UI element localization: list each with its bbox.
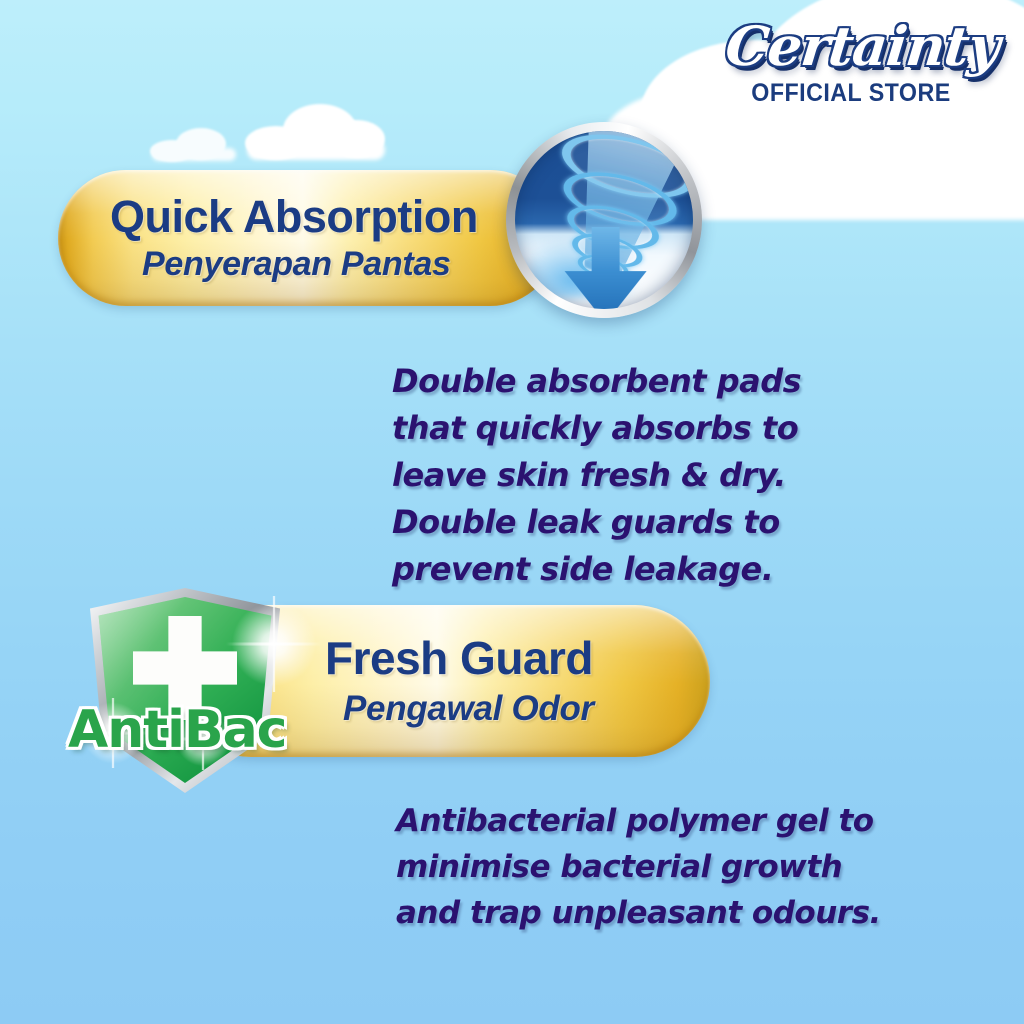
cloud-puff: [245, 126, 307, 160]
cloud-base: [152, 148, 236, 161]
feature-body-fresh-guard: Antibacterial polymer gel to minimise ba…: [396, 798, 896, 936]
feature-subtitle: Pengawal Odor: [325, 686, 710, 732]
cloud-puff: [150, 140, 194, 162]
cloud-small: [150, 126, 236, 160]
brand-wordmark: Certainty: [723, 18, 979, 75]
absorption-vortex-circle-icon: [506, 122, 702, 318]
pill-text-group: Quick Absorption Penyerapan Pantas: [58, 170, 558, 306]
cloud-puff: [283, 104, 357, 156]
feature-title: Fresh Guard: [325, 630, 710, 686]
antibac-label: AntiBac: [68, 700, 308, 760]
cloud-puff: [176, 128, 226, 160]
feature-subtitle: Penyerapan Pantas: [110, 243, 558, 285]
feature-body-quick-absorption: Double absorbent pads that quickly absor…: [392, 358, 862, 593]
antibac-shield-icon: [86, 588, 284, 793]
cloud-base: [247, 140, 385, 160]
feature-pill-quick-absorption: Quick Absorption Penyerapan Pantas: [58, 170, 558, 306]
cloud-medium: [245, 100, 385, 158]
official-store-label: OFFICIAL STORE: [735, 79, 968, 108]
feature-title: Quick Absorption: [110, 191, 558, 243]
promo-banner: Certainty OFFICIAL STORE Quick Absorptio…: [0, 0, 1024, 1024]
cloud-puff: [329, 120, 385, 158]
icon-disc: [515, 131, 693, 309]
brand-logo: Certainty OFFICIAL STORE: [726, 18, 976, 108]
